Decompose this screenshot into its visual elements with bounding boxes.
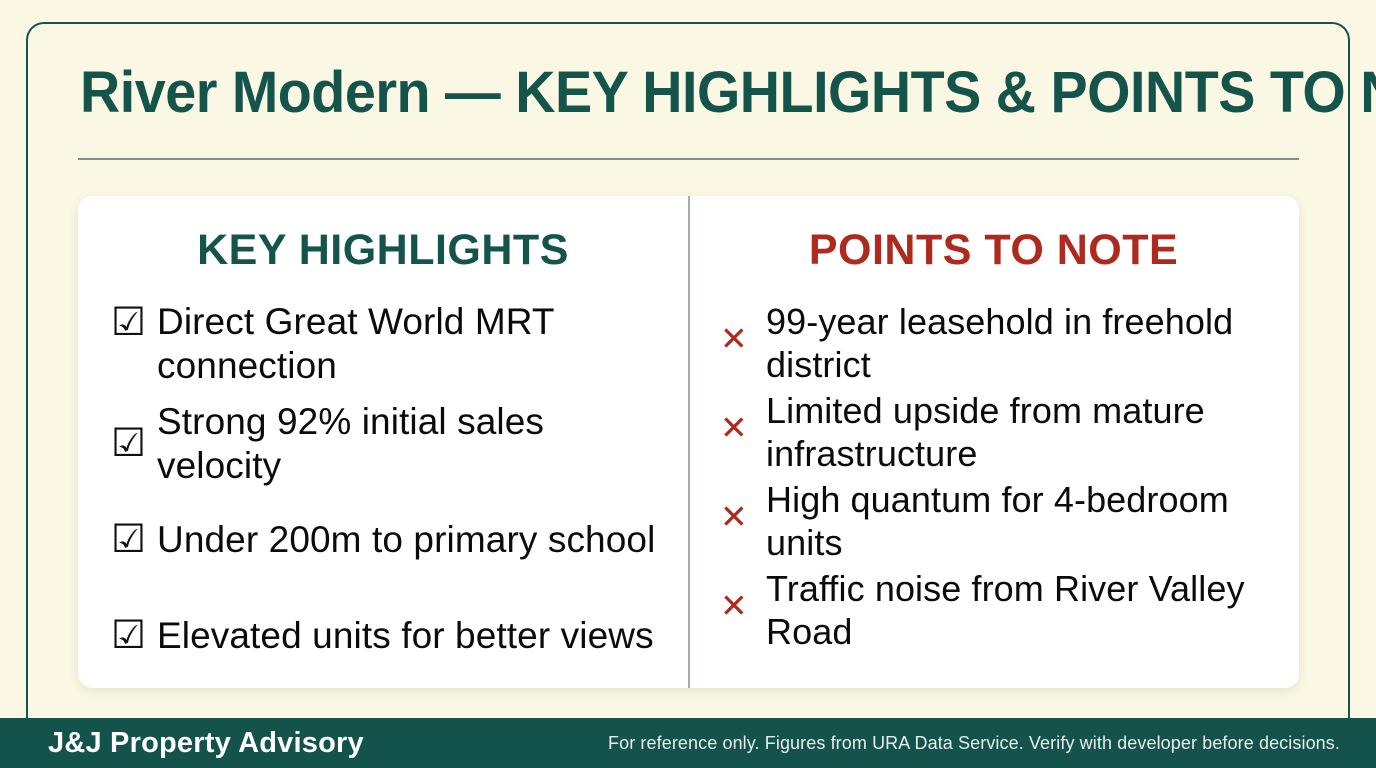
list-item-label: Limited upside from mature infrastructur… bbox=[766, 389, 1283, 475]
brand-name: J&J Property Advisory bbox=[48, 726, 364, 760]
list-item: ✕ Traffic noise from River Valley Road bbox=[720, 567, 1283, 653]
footer-bar: J&J Property Advisory For reference only… bbox=[0, 718, 1376, 768]
list-item-label: Direct Great World MRT connection bbox=[157, 300, 670, 388]
points-to-note-column: POINTS TO NOTE ✕ 99-year leasehold in fr… bbox=[688, 196, 1299, 688]
list-item: ☑ Elevated units for better views bbox=[111, 588, 670, 684]
cross-x-icon: ✕ bbox=[720, 478, 766, 540]
points-to-note-heading: POINTS TO NOTE bbox=[688, 226, 1299, 274]
page-title: River Modern — KEY HIGHLIGHTS & POINTS T… bbox=[80, 58, 1261, 128]
footer-disclaimer: For reference only. Figures from URA Dat… bbox=[608, 732, 1340, 754]
list-item-label: Under 200m to primary school bbox=[157, 518, 655, 562]
list-item: ✕ Limited upside from mature infrastruct… bbox=[720, 389, 1283, 475]
checkbox-checked-icon: ☑ bbox=[111, 517, 157, 563]
slide-root: River Modern — KEY HIGHLIGHTS & POINTS T… bbox=[0, 0, 1376, 768]
cross-x-icon: ✕ bbox=[720, 567, 766, 629]
list-item: ☑ Strong 92% initial sales velocity bbox=[111, 396, 670, 492]
cross-x-icon: ✕ bbox=[720, 389, 766, 451]
checkbox-checked-icon: ☑ bbox=[111, 300, 157, 346]
checkbox-checked-icon: ☑ bbox=[111, 421, 157, 467]
list-item: ☑ Direct Great World MRT connection bbox=[111, 300, 670, 396]
list-item-label: Strong 92% initial sales velocity bbox=[157, 400, 670, 488]
key-highlights-heading: KEY HIGHLIGHTS bbox=[78, 226, 688, 274]
key-highlights-list: ☑ Direct Great World MRT connection ☑ St… bbox=[78, 300, 688, 684]
list-item-label: High quantum for 4-bedroom units bbox=[766, 478, 1283, 564]
title-divider-rule bbox=[78, 158, 1299, 160]
checkbox-checked-icon: ☑ bbox=[111, 613, 157, 659]
list-item-label: 99-year leasehold in freehold district bbox=[766, 300, 1283, 386]
list-item: ☑ Under 200m to primary school bbox=[111, 492, 670, 588]
list-item: ✕ 99-year leasehold in freehold district bbox=[720, 300, 1283, 386]
cross-x-icon: ✕ bbox=[720, 300, 766, 362]
list-item: ✕ High quantum for 4-bedroom units bbox=[720, 478, 1283, 564]
list-item-label: Elevated units for better views bbox=[157, 614, 654, 658]
content-card: KEY HIGHLIGHTS ☑ Direct Great World MRT … bbox=[78, 196, 1299, 688]
points-to-note-list: ✕ 99-year leasehold in freehold district… bbox=[688, 300, 1299, 653]
list-item-label: Traffic noise from River Valley Road bbox=[766, 567, 1283, 653]
key-highlights-column: KEY HIGHLIGHTS ☑ Direct Great World MRT … bbox=[78, 196, 688, 688]
